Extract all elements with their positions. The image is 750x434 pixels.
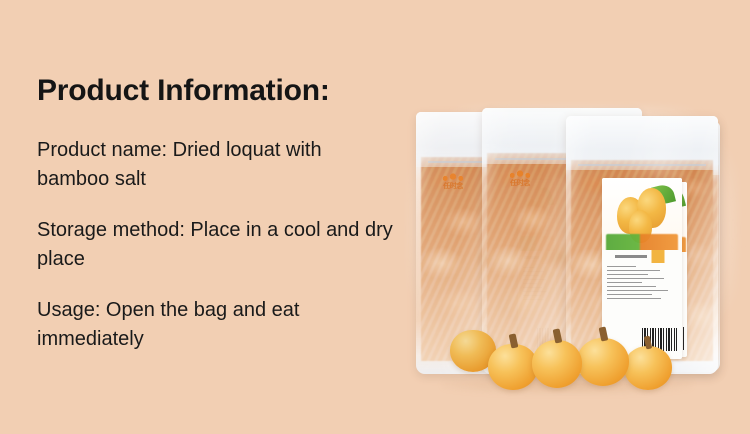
loquat-fruit	[577, 338, 629, 386]
stem-icon	[553, 329, 562, 344]
product-photo: 任时念	[408, 106, 750, 396]
page-title: Product Information:	[37, 73, 412, 109]
stem-icon	[509, 333, 518, 348]
storage-method-line: Storage method: Place in a cool and dry …	[37, 216, 397, 274]
brand-logo: 任时念	[498, 167, 542, 188]
label-artwork	[602, 178, 681, 250]
brand-logo: 任时念	[431, 170, 475, 191]
brand-name: 任时念	[431, 183, 475, 191]
label-product-title	[606, 234, 679, 250]
stem-icon	[598, 327, 608, 342]
loquat-fruit	[532, 340, 582, 388]
bag-top-seal	[566, 116, 718, 170]
loquat-fruit	[488, 344, 538, 390]
product-information-banner: Product Information: Product name: Dried…	[0, 0, 750, 434]
crown-icon	[507, 167, 533, 179]
fresh-loquat-group	[444, 324, 714, 394]
usage-line: Usage: Open the bag and eat immediately	[37, 296, 397, 354]
product-info-text-block: Product Information: Product name: Dried…	[37, 73, 412, 354]
loquat-fruit	[624, 346, 672, 390]
label-net-weight	[602, 250, 681, 263]
product-name-line: Product name: Dried loquat with bamboo s…	[37, 136, 397, 194]
stem-icon	[644, 336, 653, 350]
brand-name: 任时念	[498, 180, 542, 188]
crown-icon	[440, 170, 466, 182]
